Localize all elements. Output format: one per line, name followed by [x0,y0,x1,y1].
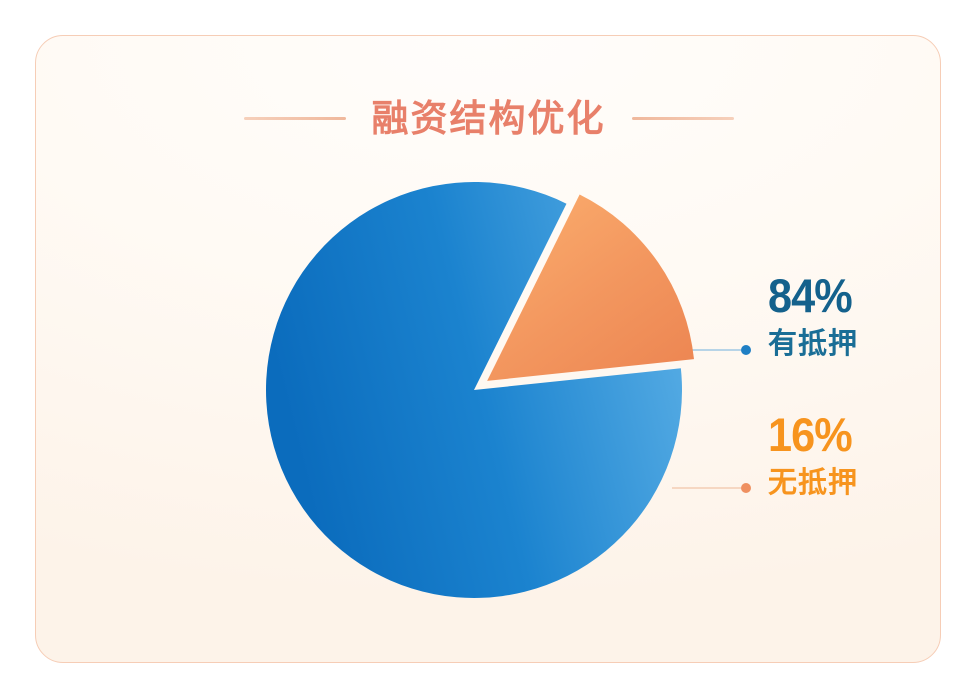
callout-no-collateral: 16% 无抵押 [768,411,859,498]
pie-slices [266,182,694,598]
chart-canvas: 融资结构优化 [0,0,977,697]
callout-label-blue: 有抵押 [768,330,859,359]
callout-percent-blue: 84% [768,272,852,319]
callout-percent-orange: 16% [768,411,852,458]
leader-dot-blue [741,345,751,355]
leader-dot-orange [741,483,751,493]
callout-label-orange: 无抵押 [768,469,859,498]
callout-has-collateral: 84% 有抵押 [768,272,859,359]
